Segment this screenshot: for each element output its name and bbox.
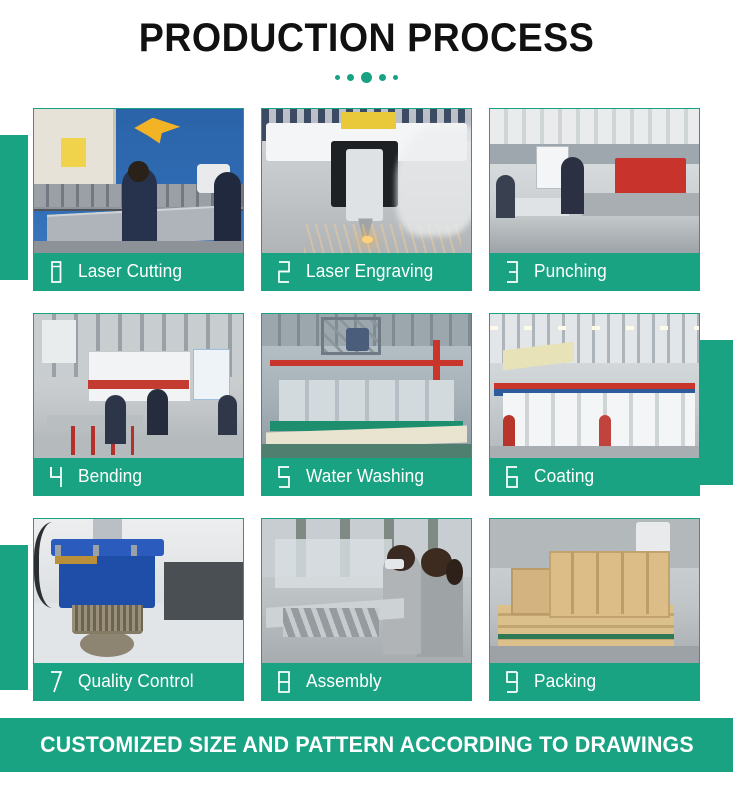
process-label-text: Water Washing: [306, 466, 424, 487]
process-label-laser-engraving: Laser Engraving: [262, 253, 471, 290]
process-photo-laser-cutting: [34, 109, 243, 253]
segment-digit-6-icon: [499, 464, 525, 490]
process-label-bending: Bending: [34, 458, 243, 495]
page-header: PRODUCTION PROCESS: [0, 0, 733, 83]
divider-dot-5: [393, 75, 398, 80]
dot-divider: [0, 71, 733, 83]
process-card-packing[interactable]: Packing: [489, 518, 700, 701]
process-card-coating[interactable]: Coating: [489, 313, 700, 496]
process-label-water-washing: Water Washing: [262, 458, 471, 495]
divider-dot-4: [379, 74, 386, 81]
footer-banner: CUSTOMIZED SIZE AND PATTERN ACCORDING TO…: [0, 718, 733, 772]
process-row-1-cards: Laser Cutting Laser Engraving: [33, 108, 700, 291]
segment-digit-5-icon: [271, 464, 297, 490]
process-label-text: Assembly: [306, 671, 382, 692]
segment-digit-8-icon: [271, 669, 297, 695]
segment-digit-7-icon: [43, 669, 69, 695]
process-card-assembly[interactable]: Assembly: [261, 518, 472, 701]
decorative-block-right-row2: [700, 340, 733, 485]
process-photo-assembly: [262, 519, 471, 663]
segment-digit-1-icon: [43, 259, 69, 285]
segment-digit-2-icon: [271, 259, 297, 285]
process-label-text: Packing: [534, 671, 596, 692]
process-label-text: Coating: [534, 466, 594, 487]
process-card-laser-cutting[interactable]: Laser Cutting: [33, 108, 244, 291]
process-row-2-cards: Bending Water Was: [33, 313, 700, 496]
process-label-laser-cutting: Laser Cutting: [34, 253, 243, 290]
process-label-quality-control: Quality Control: [34, 663, 243, 700]
process-card-water-washing[interactable]: Water Washing: [261, 313, 472, 496]
process-label-assembly: Assembly: [262, 663, 471, 700]
process-photo-packing: [490, 519, 699, 663]
process-photo-laser-engraving: [262, 109, 471, 253]
decorative-block-left-row3: [0, 545, 28, 690]
divider-dot-1: [335, 75, 340, 80]
process-row-3: Quality Control A: [0, 515, 733, 720]
process-photo-quality-control: [34, 519, 243, 663]
decorative-block-left-row1: [0, 135, 28, 280]
page-title: PRODUCTION PROCESS: [22, 16, 711, 60]
process-row-1: Laser Cutting Laser Engraving: [0, 105, 733, 310]
process-label-text: Quality Control: [78, 671, 194, 692]
process-photo-water-washing: [262, 314, 471, 458]
divider-dot-2: [347, 74, 354, 81]
process-row-3-cards: Quality Control A: [33, 518, 700, 701]
process-card-punching[interactable]: Punching: [489, 108, 700, 291]
process-photo-bending: [34, 314, 243, 458]
process-label-coating: Coating: [490, 458, 699, 495]
process-label-text: Laser Engraving: [306, 261, 433, 282]
process-card-quality-control[interactable]: Quality Control: [33, 518, 244, 701]
process-photo-coating: [490, 314, 699, 458]
process-row-2: Bending Water Was: [0, 310, 733, 515]
footer-banner-text: CUSTOMIZED SIZE AND PATTERN ACCORDING TO…: [40, 732, 694, 758]
process-grid: Laser Cutting Laser Engraving: [0, 105, 733, 720]
segment-digit-3-icon: [499, 259, 525, 285]
process-label-text: Laser Cutting: [78, 261, 182, 282]
process-label-text: Bending: [78, 466, 142, 487]
process-card-bending[interactable]: Bending: [33, 313, 244, 496]
segment-digit-4-icon: [43, 464, 69, 490]
process-card-laser-engraving[interactable]: Laser Engraving: [261, 108, 472, 291]
process-label-packing: Packing: [490, 663, 699, 700]
process-label-punching: Punching: [490, 253, 699, 290]
divider-dot-3: [361, 72, 372, 83]
process-photo-punching: [490, 109, 699, 253]
segment-digit-9-icon: [499, 669, 525, 695]
process-label-text: Punching: [534, 261, 607, 282]
